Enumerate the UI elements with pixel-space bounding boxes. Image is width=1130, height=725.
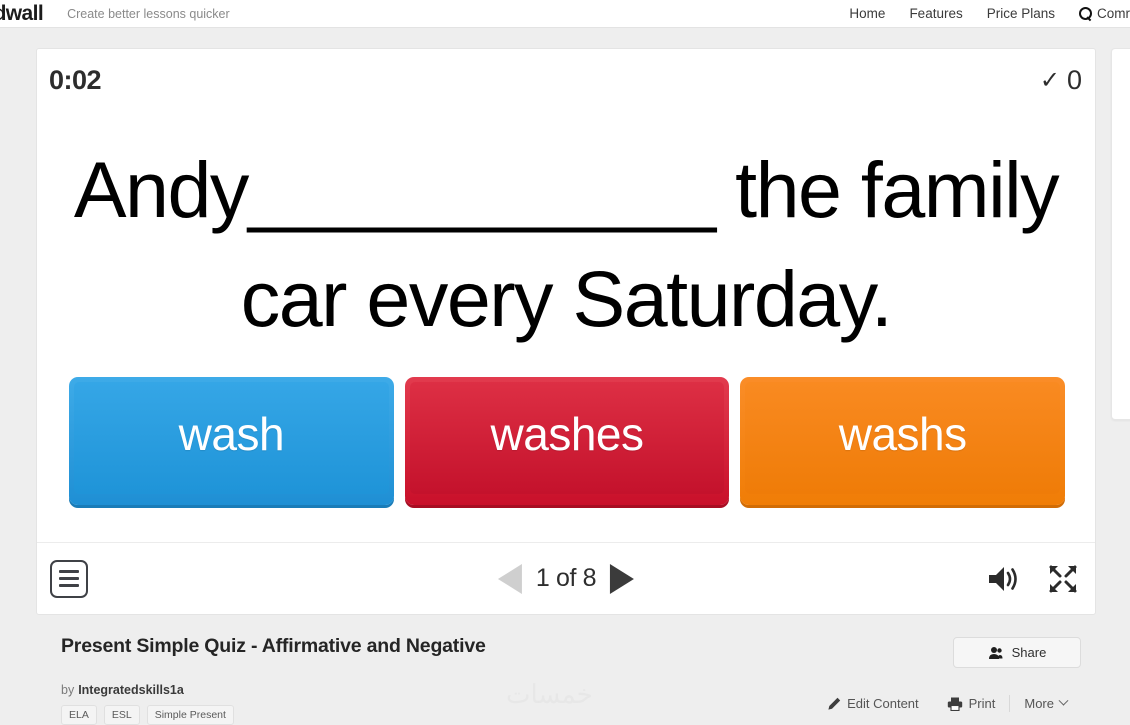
checkmark-icon: ✓	[1040, 69, 1060, 93]
answer-option-3[interactable]: washs	[740, 377, 1065, 505]
nav-community[interactable]: Comr	[1079, 6, 1130, 21]
timer-display: 0:02	[49, 65, 101, 96]
answer-option-3-label: washs	[839, 407, 967, 461]
chevron-down-icon	[1059, 696, 1069, 706]
print-label: Print	[969, 696, 996, 711]
game-control-bar: 1 of 8	[37, 542, 1095, 614]
score-display: ✓ 0	[1040, 65, 1082, 96]
edit-content-label: Edit Content	[847, 696, 919, 711]
share-button[interactable]: Share	[953, 637, 1081, 668]
watermark: خمسات	[506, 679, 593, 710]
site-header: rdwall Create better lessons quicker Hom…	[0, 0, 1130, 28]
tag-item[interactable]: ELA	[61, 705, 97, 725]
tags-row: ELA ESL Simple Present	[61, 705, 234, 725]
speaker-icon[interactable]	[987, 564, 1021, 594]
nav-features[interactable]: Features	[909, 6, 962, 21]
game-card: 0:02 ✓ 0 Andy___________ the family car …	[36, 48, 1096, 615]
pencil-icon	[827, 697, 841, 711]
search-icon	[1079, 7, 1092, 20]
nav-price-plans[interactable]: Price Plans	[987, 6, 1055, 21]
next-arrow-icon[interactable]	[610, 564, 634, 594]
author-line: byIntegratedskills1a	[61, 683, 184, 697]
question-text: Andy___________ the family car every Sat…	[53, 135, 1079, 353]
nav-home[interactable]: Home	[849, 6, 885, 21]
by-label: by	[61, 683, 74, 697]
answer-option-1[interactable]: wash	[69, 377, 394, 505]
right-side-panel	[1111, 48, 1130, 420]
game-status-row: 0:02 ✓ 0	[37, 49, 1095, 115]
author-name[interactable]: Integratedskills1a	[78, 683, 184, 697]
brand-tagline: Create better lessons quicker	[67, 7, 230, 21]
hamburger-line	[59, 570, 79, 573]
brand-logo[interactable]: rdwall	[0, 2, 43, 26]
question-area: Andy___________ the family car every Sat…	[37, 135, 1095, 395]
main-navigation: Home Features Price Plans Comr	[849, 6, 1130, 21]
printer-icon	[947, 697, 963, 711]
fullscreen-icon[interactable]	[1047, 563, 1079, 595]
share-button-label: Share	[1012, 645, 1047, 660]
hamburger-line	[59, 584, 79, 587]
answer-option-2[interactable]: washes	[405, 377, 730, 505]
edit-content-button[interactable]: Edit Content	[813, 696, 933, 711]
more-button[interactable]: More	[1010, 696, 1081, 711]
answer-option-1-label: wash	[179, 407, 284, 461]
previous-arrow-icon[interactable]	[498, 564, 522, 594]
page-navigation: 1 of 8	[498, 564, 634, 594]
quiz-info-section: Present Simple Quiz - Affirmative and Ne…	[36, 627, 1096, 722]
more-label: More	[1024, 696, 1054, 711]
tag-item[interactable]: ESL	[104, 705, 140, 725]
nav-community-label: Comr	[1097, 6, 1130, 21]
person-icon	[988, 646, 1003, 660]
control-bar-right	[987, 563, 1079, 595]
tag-item[interactable]: Simple Present	[147, 705, 234, 725]
quiz-title: Present Simple Quiz - Affirmative and Ne…	[61, 635, 486, 658]
answer-options: wash washes washs	[69, 377, 1065, 505]
page-indicator: 1 of 8	[536, 564, 596, 593]
score-value: 0	[1067, 65, 1082, 96]
action-links: Edit Content Print More	[813, 695, 1081, 712]
hamburger-line	[59, 577, 79, 580]
print-button[interactable]: Print	[933, 696, 1010, 711]
answer-option-2-label: washes	[491, 407, 644, 461]
hamburger-menu-icon[interactable]	[50, 560, 88, 598]
